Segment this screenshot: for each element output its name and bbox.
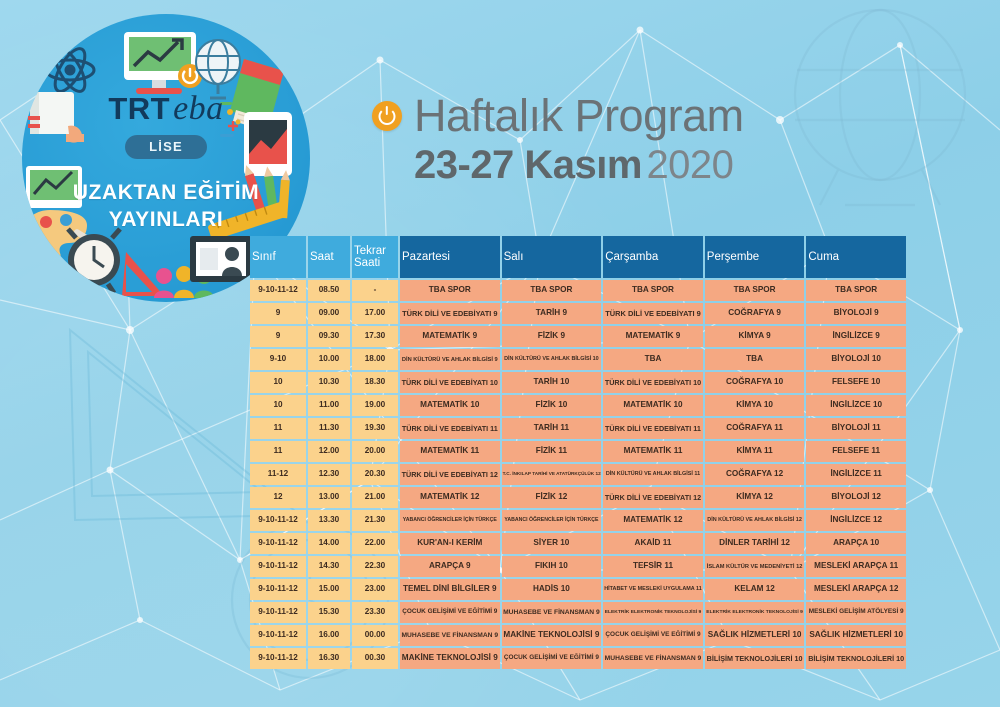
cell-lesson: TÜRK DİLİ VE EDEBİYATI 9 — [400, 303, 500, 324]
cell-lesson: FELSEFE 10 — [806, 372, 906, 393]
table-row: 9-10-11-1215.0023.00TEMEL DİNİ BİLGİLER … — [250, 579, 906, 600]
table-row: 9-10-11-1213.3021.30YABANCI ÖĞRENCİLER İ… — [250, 510, 906, 531]
cell-lesson: FİZİK 9 — [502, 326, 602, 347]
cell-lesson: KİMYA 10 — [705, 395, 805, 416]
cell-lesson: TBA SPOR — [502, 280, 602, 301]
column-header-pazartesi: Pazartesi — [400, 236, 500, 278]
table-row: 11-1212.3020.30TÜRK DİLİ VE EDEBİYATI 12… — [250, 464, 906, 485]
cell-lesson: BİYOLOJİ 10 — [806, 349, 906, 370]
title-year: 2020 — [646, 143, 733, 187]
cell-saat: 12.30 — [308, 464, 350, 485]
cell-lesson: KİMYA 12 — [705, 487, 805, 508]
cell-lesson: MATEMATİK 10 — [400, 395, 500, 416]
cell-tekrar: 17.30 — [352, 326, 398, 347]
table-row: 9-10-11-1214.3022.30ARAPÇA 9FIKIH 10TEFS… — [250, 556, 906, 577]
column-header-carsamba: Çarşamba — [603, 236, 703, 278]
cell-tekrar: 21.00 — [352, 487, 398, 508]
cell-saat: 12.00 — [308, 441, 350, 462]
cell-lesson: COĞRAFYA 12 — [705, 464, 805, 485]
cell-saat: 15.00 — [308, 579, 350, 600]
cell-lesson: TBA SPOR — [806, 280, 906, 301]
cell-lesson: COĞRAFYA 11 — [705, 418, 805, 439]
cell-lesson: SAĞLIK HİZMETLERİ 10 — [806, 625, 906, 646]
cell-lesson: DİNLER TARİHİ 12 — [705, 533, 805, 554]
table-row: 1111.3019.30TÜRK DİLİ VE EDEBİYATI 11TAR… — [250, 418, 906, 439]
cell-lesson: İNGİLİZCE 10 — [806, 395, 906, 416]
logo-brand: TRTeba — [22, 92, 310, 126]
title-heading: Haftalık Program — [414, 92, 744, 139]
cell-lesson: TBA — [603, 349, 703, 370]
cell-sinif: 9-10-11-12 — [250, 556, 306, 577]
cell-tekrar: 19.00 — [352, 395, 398, 416]
table-row: 909.3017.30MATEMATİK 9FİZİK 9MATEMATİK 9… — [250, 326, 906, 347]
cell-lesson: FİZİK 12 — [502, 487, 602, 508]
cell-saat: 14.30 — [308, 556, 350, 577]
cell-lesson: TBA SPOR — [603, 280, 703, 301]
cell-sinif: 9 — [250, 326, 306, 347]
cell-lesson: ARAPÇA 10 — [806, 533, 906, 554]
cell-lesson: TARİH 9 — [502, 303, 602, 324]
cell-sinif: 9-10 — [250, 349, 306, 370]
cell-sinif: 9-10-11-12 — [250, 625, 306, 646]
cell-lesson: MUHASEBE VE FİNANSMAN 9 — [603, 648, 703, 669]
cell-lesson: TBA — [705, 349, 805, 370]
table-row: 9-10-11-1216.0000.00MUHASEBE VE FİNANSMA… — [250, 625, 906, 646]
cell-sinif: 11 — [250, 418, 306, 439]
cell-lesson: ÇOCUK GELİŞİMİ VE EĞİTİMİ 9 — [502, 648, 602, 669]
cell-lesson: COĞRAFYA 9 — [705, 303, 805, 324]
cell-sinif: 9-10-11-12 — [250, 602, 306, 623]
cell-saat: 09.00 — [308, 303, 350, 324]
cell-lesson: MAKİNE TEKNOLOJİSİ 9 — [502, 625, 602, 646]
cell-lesson: FIKIH 10 — [502, 556, 602, 577]
cell-saat: 13.30 — [308, 510, 350, 531]
cell-tekrar: 23.30 — [352, 602, 398, 623]
cell-lesson: HADİS 10 — [502, 579, 602, 600]
cell-lesson: ÇOCUK GELİŞİMİ VE EĞİTİMİ 9 — [400, 602, 500, 623]
cell-lesson: FİZİK 10 — [502, 395, 602, 416]
cell-lesson: TBA SPOR — [705, 280, 805, 301]
cell-lesson: MATEMATİK 9 — [400, 326, 500, 347]
title-date-range: 23-27 Kasım — [414, 143, 642, 187]
cell-lesson: MATEMATİK 11 — [603, 441, 703, 462]
cell-lesson: TEMEL DİNİ BİLGİLER 9 — [400, 579, 500, 600]
cell-lesson: TÜRK DİLİ VE EDEBİYATI 12 — [603, 487, 703, 508]
cell-lesson: HİTABET VE MESLEKİ UYGULAMA 11 — [603, 579, 703, 600]
table-row: 909.0017.00TÜRK DİLİ VE EDEBİYATI 9TARİH… — [250, 303, 906, 324]
cell-tekrar: 22.30 — [352, 556, 398, 577]
cell-lesson: MESLEKİ GELİŞİM ATÖLYESİ 9 — [806, 602, 906, 623]
column-header-cuma: Cuma — [806, 236, 906, 278]
cell-sinif: 11-12 — [250, 464, 306, 485]
cell-lesson: TÜRK DİLİ VE EDEBİYATI 11 — [400, 418, 500, 439]
logo-brand-eba: eba — [173, 90, 224, 127]
table-row: 1112.0020.00MATEMATİK 11FİZİK 11MATEMATİ… — [250, 441, 906, 462]
cell-sinif: 10 — [250, 395, 306, 416]
table-row: 1010.3018.30TÜRK DİLİ VE EDEBİYATI 10TAR… — [250, 372, 906, 393]
atom-icon — [46, 44, 94, 96]
cell-lesson: MAKİNE TEKNOLOJİSİ 9 — [400, 648, 500, 669]
cell-lesson: TEFSİR 11 — [603, 556, 703, 577]
column-header-saat: Saat — [308, 236, 350, 278]
cell-lesson: İSLAM KÜLTÜR VE MEDENİYETİ 12 — [705, 556, 805, 577]
cell-tekrar: 18.30 — [352, 372, 398, 393]
page-title: Haftalık Program 23-27 Kasım 2020 — [372, 92, 852, 188]
cell-lesson: KELAM 12 — [705, 579, 805, 600]
cell-lesson: MATEMATİK 12 — [400, 487, 500, 508]
cell-lesson: ELEKTRİK ELEKTRONİK TEKNOLOJİSİ 9 — [705, 602, 805, 623]
cell-lesson: MATEMATİK 12 — [603, 510, 703, 531]
cell-tekrar: 20.30 — [352, 464, 398, 485]
cell-lesson: SAĞLIK HİZMETLERİ 10 — [705, 625, 805, 646]
cell-saat: 08.50 — [308, 280, 350, 301]
cell-saat: 10.00 — [308, 349, 350, 370]
logo-level-badge: LİSE — [125, 135, 207, 159]
cell-saat: 11.30 — [308, 418, 350, 439]
cell-lesson: DİN KÜLTÜRÜ VE AHLAK BİLGİSİ 10 — [502, 349, 602, 370]
column-header-sali: Salı — [502, 236, 602, 278]
cell-lesson: YABANCI ÖĞRENCİLER İÇİN TÜRKÇE — [502, 510, 602, 531]
cell-tekrar: 00.00 — [352, 625, 398, 646]
cell-lesson: TÜRK DİLİ VE EDEBİYATI 12 — [400, 464, 500, 485]
table-row: 9-10-11-1208.50-TBA SPORTBA SPORTBA SPOR… — [250, 280, 906, 301]
cell-saat: 13.00 — [308, 487, 350, 508]
cell-lesson: BİYOLOJİ 9 — [806, 303, 906, 324]
cell-lesson: İNGİLİZCE 9 — [806, 326, 906, 347]
cell-tekrar: 00.30 — [352, 648, 398, 669]
cell-saat: 15.30 — [308, 602, 350, 623]
cell-lesson: MUHASEBE VE FİNANSMAN 9 — [400, 625, 500, 646]
cell-sinif: 10 — [250, 372, 306, 393]
table-header-row: Sınıf Saat Tekrar Saati Pazartesi Salı Ç… — [250, 236, 906, 278]
cell-sinif: 11 — [250, 441, 306, 462]
cell-tekrar: 21.30 — [352, 510, 398, 531]
table-row: 9-10-11-1216.3000.30MAKİNE TEKNOLOJİSİ 9… — [250, 648, 906, 669]
cell-lesson: BİLİŞİM TEKNOLOJİLERİ 10 — [806, 648, 906, 669]
column-header-tekrar-saati: Tekrar Saati — [352, 236, 398, 278]
cell-saat: 16.00 — [308, 625, 350, 646]
cell-lesson: MATEMATİK 10 — [603, 395, 703, 416]
cell-lesson: TÜRK DİLİ VE EDEBİYATI 11 — [603, 418, 703, 439]
table-row: 1011.0019.00MATEMATİK 10FİZİK 10MATEMATİ… — [250, 395, 906, 416]
cell-lesson: DİN KÜLTÜRÜ VE AHLAK BİLGİSİ 12 — [705, 510, 805, 531]
cell-lesson: MATEMATİK 11 — [400, 441, 500, 462]
cell-saat: 10.30 — [308, 372, 350, 393]
cell-tekrar: 20.00 — [352, 441, 398, 462]
cell-sinif: 9-10-11-12 — [250, 533, 306, 554]
weekly-schedule-table: Sınıf Saat Tekrar Saati Pazartesi Salı Ç… — [248, 234, 908, 671]
cell-lesson: TARİH 11 — [502, 418, 602, 439]
column-header-persembe: Perşembe — [705, 236, 805, 278]
cell-lesson: BİLİŞİM TEKNOLOJİLERİ 10 — [705, 648, 805, 669]
cell-sinif: 9-10-11-12 — [250, 280, 306, 301]
cell-lesson: TÜRK DİLİ VE EDEBİYATI 10 — [603, 372, 703, 393]
cell-lesson: BİYOLOJİ 11 — [806, 418, 906, 439]
cell-sinif: 9-10-11-12 — [250, 510, 306, 531]
cell-lesson: DİN KÜLTÜRÜ VE AHLAK BİLGİSİ 11 — [603, 464, 703, 485]
cell-sinif: 9 — [250, 303, 306, 324]
cell-lesson: T.C. İNKILAP TARİHİ VE ATATÜRKÇÜLÜK 12 — [502, 464, 602, 485]
cell-saat: 11.00 — [308, 395, 350, 416]
cell-tekrar: 23.00 — [352, 579, 398, 600]
cell-lesson: SİYER 10 — [502, 533, 602, 554]
cell-tekrar: 22.00 — [352, 533, 398, 554]
cell-lesson: FELSEFE 11 — [806, 441, 906, 462]
power-icon — [372, 101, 402, 131]
cell-lesson: TARİH 10 — [502, 372, 602, 393]
table-row: 9-10-11-1214.0022.00KUR'AN-I KERİMSİYER … — [250, 533, 906, 554]
cell-lesson: ARAPÇA 9 — [400, 556, 500, 577]
logo-tagline-line2: YAYINLARI — [22, 206, 310, 233]
cell-lesson: BİYOLOJİ 12 — [806, 487, 906, 508]
cell-sinif: 9-10-11-12 — [250, 648, 306, 669]
cell-lesson: KİMYA 11 — [705, 441, 805, 462]
cell-lesson: TÜRK DİLİ VE EDEBİYATI 10 — [400, 372, 500, 393]
logo-brand-trt: TRT — [108, 91, 170, 126]
cell-lesson: FİZİK 11 — [502, 441, 602, 462]
cell-lesson: TBA SPOR — [400, 280, 500, 301]
cell-lesson: ELEKTRİK ELEKTRONİK TEKNOLOJİSİ 9 — [603, 602, 703, 623]
cell-sinif: 9-10-11-12 — [250, 579, 306, 600]
cell-tekrar: 17.00 — [352, 303, 398, 324]
cell-lesson: MESLEKİ ARAPÇA 11 — [806, 556, 906, 577]
cell-lesson: KİMYA 9 — [705, 326, 805, 347]
cell-lesson: COĞRAFYA 10 — [705, 372, 805, 393]
logo-tagline-line1: UZAKTAN EĞİTİM — [22, 179, 310, 206]
table-row: 9-10-11-1215.3023.30ÇOCUK GELİŞİMİ VE EĞ… — [250, 602, 906, 623]
cell-lesson: ÇOCUK GELİŞİMİ VE EĞİTİMİ 9 — [603, 625, 703, 646]
cell-lesson: MUHASEBE VE FİNANSMAN 9 — [502, 602, 602, 623]
cell-tekrar: 19.30 — [352, 418, 398, 439]
cell-sinif: 12 — [250, 487, 306, 508]
column-header-sinif: Sınıf — [250, 236, 306, 278]
cell-saat: 14.00 — [308, 533, 350, 554]
cell-lesson: MESLEKİ ARAPÇA 12 — [806, 579, 906, 600]
cell-lesson: İNGİLİZCE 11 — [806, 464, 906, 485]
cell-lesson: DİN KÜLTÜRÜ VE AHLAK BİLGİSİ 9 — [400, 349, 500, 370]
cell-lesson: TÜRK DİLİ VE EDEBİYATI 9 — [603, 303, 703, 324]
video-call-icon — [190, 236, 252, 282]
cell-lesson: YABANCI ÖĞRENCİLER İÇİN TÜRKÇE — [400, 510, 500, 531]
table-row: 1213.0021.00MATEMATİK 12FİZİK 12TÜRK DİL… — [250, 487, 906, 508]
cell-tekrar: - — [352, 280, 398, 301]
cell-tekrar: 18.00 — [352, 349, 398, 370]
cell-lesson: İNGİLİZCE 12 — [806, 510, 906, 531]
cell-lesson: AKAİD 11 — [603, 533, 703, 554]
cell-saat: 16.30 — [308, 648, 350, 669]
cell-saat: 09.30 — [308, 326, 350, 347]
table-row: 9-1010.0018.00DİN KÜLTÜRÜ VE AHLAK BİLGİ… — [250, 349, 906, 370]
cell-lesson: KUR'AN-I KERİM — [400, 533, 500, 554]
cell-lesson: MATEMATİK 9 — [603, 326, 703, 347]
